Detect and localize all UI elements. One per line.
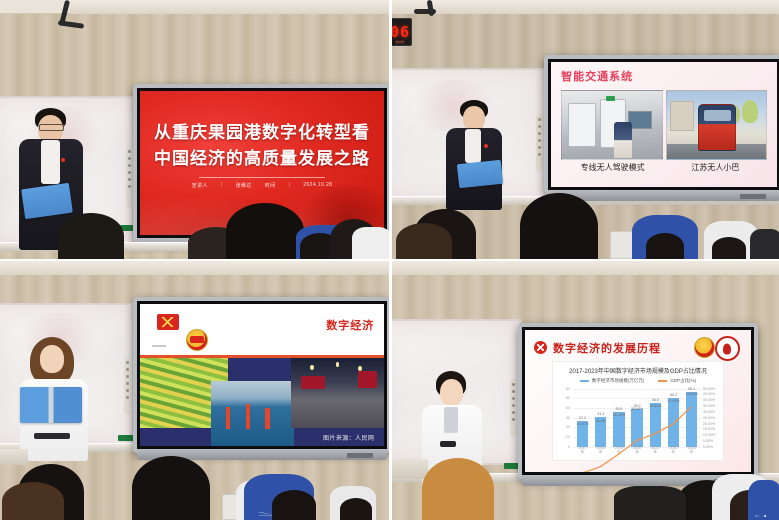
board-side-keys — [510, 379, 517, 437]
chart-line-label: 36.20% — [613, 413, 625, 417]
meta-date-label: 时间 — [265, 182, 276, 189]
chart-y2-tick: 45.00% — [703, 392, 715, 396]
caption-right: 江苏无人小巴 — [664, 162, 767, 173]
chart-x-tick: 2018年 — [595, 446, 606, 454]
slide-canvas: 从重庆果园港数字化转型看 中国经济的高质量发展之路 宣讲人 | 张维达 时间 |… — [140, 91, 384, 235]
slide-tick-decor — [152, 345, 166, 347]
presenter-figure — [422, 371, 486, 487]
slide-photo-collage: 图片来源：人民网 — [140, 358, 384, 446]
meta-sep-1: | — [221, 182, 223, 189]
chart-y-tick: 0 — [568, 445, 570, 449]
slide-background: 从重庆果园港数字化转型看 中国经济的高质量发展之路 宣讲人 | 张维达 时间 |… — [140, 91, 384, 235]
chart-y2-tick: 15.00% — [703, 427, 715, 431]
chart-line-label: 38.60% — [631, 407, 643, 411]
slide-photo-row — [561, 90, 767, 160]
school-emblem-icon — [715, 336, 740, 361]
presenter-figure — [15, 108, 87, 250]
chart-line-label: 41.50% — [667, 399, 679, 403]
panel-bottom-right: 数字经济的发展历程 2017-2023年中国数字经济市场规模及GDP占比情况 数… — [392, 261, 779, 520]
legend-label-bar: 数字经济市场规模(万亿元) — [592, 378, 645, 383]
chart-y2-tick: 50.00% — [703, 387, 715, 391]
meta-sep-2: | — [289, 182, 291, 189]
chart-x-tick: 2019年 — [613, 446, 624, 454]
ceiling-strip — [392, 261, 779, 275]
countdown-clock: 06 倒计时 — [392, 18, 412, 46]
slide-canvas: 智能交通系统 — [551, 62, 777, 187]
presentation-clicker — [440, 441, 456, 447]
chart-line-label: 34.0% — [596, 419, 606, 423]
chart-x-tick: 2022年 — [668, 446, 679, 454]
ceiling-panel — [0, 0, 70, 14]
chart-legend: 数字经济市场规模(万亿元) GDP占比(%) — [553, 378, 723, 384]
presenter-head — [40, 345, 64, 373]
chart-y2-tick: 5.00% — [703, 439, 713, 443]
caption-left: 专线无人驾驶模式 — [561, 162, 664, 173]
presenter-folder — [457, 160, 503, 188]
party-pin-icon — [61, 158, 65, 162]
slide-captions: 专线无人驾驶模式 江苏无人小巴 — [561, 162, 767, 173]
chart-line-label: 44.50% — [686, 392, 698, 396]
chart-x-tick: 2021年 — [650, 446, 661, 454]
chart-y2-tick: 20.00% — [703, 422, 715, 426]
photo-container-port — [211, 381, 294, 446]
chart-y-tick: 60 — [566, 387, 570, 391]
slide-title: 智能交通系统 — [561, 68, 633, 84]
cyl-emblem-icon — [694, 337, 715, 358]
four-panel-collage: 从重庆果园港数字化转型看 中国经济的高质量发展之路 宣讲人 | 张维达 时间 |… — [0, 0, 779, 520]
presenter-folder — [20, 387, 82, 423]
legend-label-line: GDP占比(%) — [670, 378, 696, 383]
slide-title: 数字经济的发展历程 — [553, 340, 661, 356]
panel-bottom-left: 数字经济 — [0, 261, 389, 520]
board-side-keys — [126, 146, 133, 208]
chart-line-series — [573, 389, 700, 472]
party-pin-icon — [484, 144, 488, 148]
party-badge-icon — [534, 341, 547, 354]
slide-background: 数字经济的发展历程 2017-2023年中国数字经济市场规模及GDP占比情况 数… — [525, 330, 751, 472]
chart-y-tick: 50 — [566, 396, 570, 400]
chart-container: 2017-2023年中国数字经济市场规模及GDP占比情况 数字经济市场规模(万亿… — [552, 361, 724, 460]
slide-divider — [199, 177, 326, 178]
panel-top-right: 06 倒计时 智能交通系统 — [392, 0, 779, 259]
meta-date-value: 2024.10.28 — [303, 182, 332, 189]
meta-speaker-value: 张维达 — [236, 182, 252, 189]
image-credit: 图片来源：人民网 — [323, 433, 374, 442]
party-emblem-icon — [157, 314, 179, 330]
chart-y2-tick: 30.00% — [703, 410, 715, 414]
presenter-shirt — [465, 129, 481, 163]
ceiling-strip — [0, 261, 389, 275]
chart-y2-axis: 50.00%45.00%40.00%35.00%30.00%25.00%20.0… — [701, 389, 720, 447]
slide-title-line1: 从重庆果园港数字化转型看 — [140, 118, 384, 143]
board-green-label — [118, 435, 134, 441]
photo-security-gate — [561, 90, 662, 160]
board-side-keys — [536, 114, 543, 172]
smartboard-display[interactable]: 从重庆果园港数字化转型看 中国经济的高质量发展之路 宣讲人 | 张维达 时间 |… — [133, 84, 389, 242]
slide-canvas: 数字经济 — [140, 304, 384, 446]
chart-y2-tick: 25.00% — [703, 416, 715, 420]
legend-item-line: GDP占比(%) — [658, 378, 696, 384]
slide-title-line2: 中国经济的高质量发展之路 — [140, 144, 384, 169]
board-side-keys — [124, 357, 131, 415]
side-desk — [0, 449, 28, 465]
slide-header: 数字经济的发展历程 — [534, 340, 661, 356]
cyl-emblem-icon — [186, 329, 208, 351]
slide-background: 智能交通系统 — [551, 62, 777, 187]
smartboard-brand — [740, 194, 766, 199]
presenter-shirt — [41, 140, 60, 184]
chart-x-tick: 2017年 — [577, 446, 588, 454]
ceiling-strip — [392, 0, 779, 14]
chart-title: 2017-2023年中国数字经济市场规模及GDP占比情况 — [553, 366, 723, 375]
slide-background: 数字经济 — [140, 304, 384, 446]
presenter-head — [440, 379, 463, 406]
photo-expo-hall — [291, 358, 384, 428]
chart-y2-tick: 10.00% — [703, 433, 715, 437]
chart-y-tick: 20 — [566, 425, 570, 429]
chart-y2-tick: 0.00% — [703, 445, 713, 449]
panel-top-left: 从重庆果园港数字化转型看 中国经济的高质量发展之路 宣讲人 | 张维达 时间 |… — [0, 0, 389, 259]
smartboard-brand — [347, 453, 373, 458]
chart-y-tick: 10 — [566, 435, 570, 439]
chart-y2-tick: 40.00% — [703, 398, 715, 402]
presenter-belt — [34, 433, 70, 439]
chart-line-label: 32.90% — [576, 422, 588, 426]
chart-x-tick: 2020年 — [631, 446, 642, 454]
smartboard-brand — [714, 479, 740, 484]
presenter-figure — [18, 337, 90, 461]
side-desk — [392, 459, 428, 479]
meta-speaker-label: 宣讲人 — [192, 182, 208, 189]
smartboard-display[interactable]: 数字经济 — [133, 297, 389, 453]
presenter-figure — [444, 100, 506, 210]
glasses-icon — [39, 124, 64, 131]
chart-y2-tick: 35.00% — [703, 404, 715, 408]
slide-canvas: 数字经济的发展历程 2017-2023年中国数字经济市场规模及GDP占比情况 数… — [525, 330, 751, 472]
photo-autonomous-bus — [666, 90, 767, 160]
chart-x-tick: 2023年 — [686, 446, 697, 454]
chart-y-tick: 30 — [566, 416, 570, 420]
legend-item-bar: 数字经济市场规模(万亿元) — [580, 378, 645, 384]
chart-y-tick: 40 — [566, 406, 570, 410]
smartboard-display[interactable]: 数字经济的发展历程 2017-2023年中国数字经济市场规模及GDP占比情况 数… — [518, 323, 758, 479]
slide-title: 数字经济 — [326, 317, 374, 333]
smartboard-display[interactable]: 智能交通系统 — [544, 55, 779, 194]
chart-y-axis: 6050403020100 — [558, 389, 572, 447]
clock-digits: 06 — [392, 23, 410, 41]
slide-meta: 宣讲人 | 张维达 时间 | 2024.10.28 — [140, 182, 384, 189]
clock-label: 倒计时 — [392, 40, 411, 44]
chart-plot-area: 27.231.335.839.245.550.256.1 32.90%34.0%… — [573, 389, 700, 447]
chart-line-label: 39.80% — [649, 404, 661, 408]
projector-mount-icon — [414, 9, 436, 14]
chart-x-axis: 2017年2018年2019年2020年2021年2022年2023年 — [573, 446, 700, 454]
presenter-scarf — [444, 407, 458, 433]
